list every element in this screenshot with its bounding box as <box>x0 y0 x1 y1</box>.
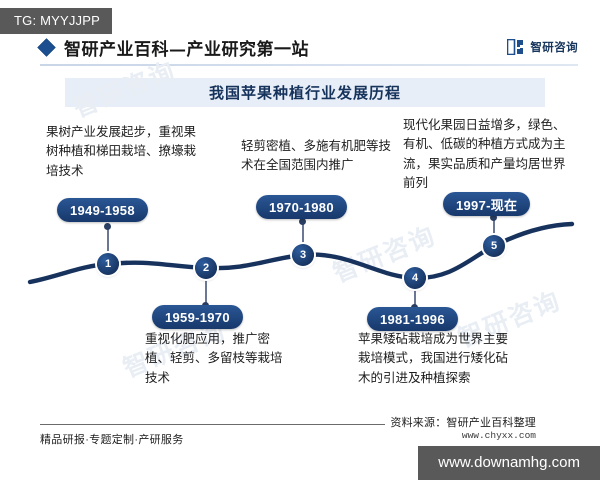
stem-dot-1 <box>104 223 111 230</box>
timeline-description-5: 现代化果园日益增多，绿色、有机、低碳的种植方式成为主流，果实品质和产量均居世界前… <box>403 116 571 194</box>
infographic-page: 智研咨询 智研咨询 智研咨询 智研咨询 智研产业百科—产业研究第一站 智研咨询 … <box>0 0 600 480</box>
period-pill-1[interactable]: 1949-1958 <box>57 198 148 222</box>
timeline-node-4[interactable]: 4 <box>404 267 426 289</box>
timeline-description-1: 果树产业发展起步，重视果树种植和梯田栽培、撩壕栽培技术 <box>46 123 206 181</box>
timeline-node-1[interactable]: 1 <box>97 253 119 275</box>
timeline-chart: 1 2 3 4 5 1949-1958 1959-1970 1970-1980 … <box>0 0 600 480</box>
timeline-description-3: 轻剪密植、多施有机肥等技术在全国范围内推广 <box>241 137 391 176</box>
site-overlay-tag: www.downamhg.com <box>418 446 600 480</box>
tg-overlay-tag: TG: MYYJJPP <box>0 8 112 34</box>
timeline-node-5[interactable]: 5 <box>483 235 505 257</box>
stem-dot-3 <box>299 218 306 225</box>
timeline-description-4: 苹果矮砧栽培成为世界主要栽培模式，我国进行矮化砧木的引进及种植探索 <box>358 330 513 388</box>
period-pill-5[interactable]: 1997-现在 <box>443 192 530 216</box>
timeline-curve-svg <box>0 0 600 480</box>
period-pill-3[interactable]: 1970-1980 <box>256 195 347 219</box>
period-pill-2[interactable]: 1959-1970 <box>152 305 243 329</box>
timeline-node-2[interactable]: 2 <box>195 257 217 279</box>
timeline-node-3[interactable]: 3 <box>292 244 314 266</box>
timeline-description-2: 重视化肥应用，推广密植、轻剪、多留枝等栽培技术 <box>145 330 293 388</box>
period-pill-4[interactable]: 1981-1996 <box>367 307 458 331</box>
